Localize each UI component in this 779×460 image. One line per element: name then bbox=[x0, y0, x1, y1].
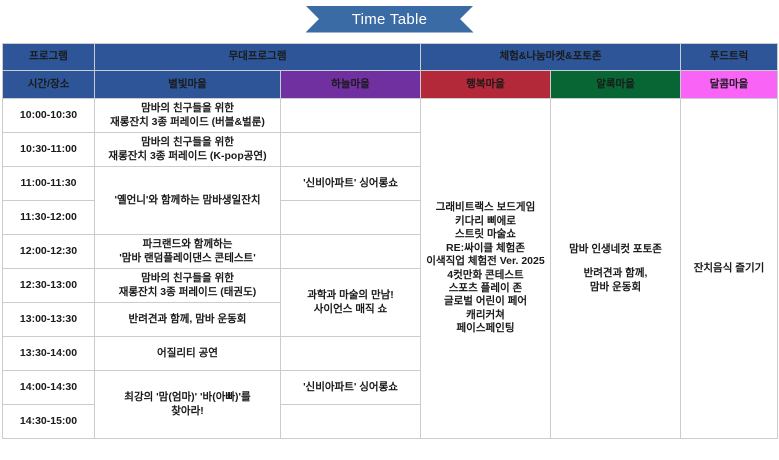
time-slot: 13:00-13:30 bbox=[3, 303, 95, 337]
header-venue-row: 시간/장소 별빛마을 하늘마을 행복마을 알록마을 달콤마을 bbox=[3, 71, 778, 99]
haengbok-item-10: 페이스페인팅 bbox=[423, 322, 548, 335]
haengbok-item-4: RE:싸이클 체험존 bbox=[423, 242, 548, 255]
haneul-cell-empty-5 bbox=[281, 235, 421, 269]
header-food-truck: 푸드트럭 bbox=[681, 44, 778, 71]
time-slot: 11:30-12:00 bbox=[3, 201, 95, 235]
timetable: 프로그램 무대프로그램 체험&나눔마켓&포토존 푸드트럭 시간/장소 별빛마을 … bbox=[2, 43, 778, 439]
header-group-row: 프로그램 무대프로그램 체험&나눔마켓&포토존 푸드트럭 bbox=[3, 44, 778, 71]
byeolbit-cell-910-line2: 찾아라! bbox=[97, 405, 278, 418]
haneul-cell-9: '신비아파트' 싱어롱쇼 bbox=[281, 371, 421, 405]
haengbok-item-3: 스트릿 마술쇼 bbox=[423, 228, 548, 241]
byeolbit-cell-1-line1: 맘바의 친구들을 위한 bbox=[97, 102, 278, 115]
header-venue-allok: 알록마을 bbox=[551, 71, 681, 99]
byeolbit-cell-6: 맘바의 친구들을 위한 재롱잔치 3종 퍼레이드 (태권도) bbox=[95, 269, 281, 303]
byeolbit-cell-5-line1: 파크랜드와 함께하는 bbox=[97, 238, 278, 251]
haengbok-cell: 그래비트랙스 보드게임 키다리 삐에로 스트릿 마술쇼 RE:싸이클 체험존 이… bbox=[421, 99, 551, 439]
haengbok-item-7: 스포츠 플레이 존 bbox=[423, 282, 548, 295]
allok-line-2b: 맘바 운동회 bbox=[553, 281, 678, 294]
time-table-page: Time Table 프로그램 무대프로그램 체험&나눔마켓&포토존 푸드트럭 … bbox=[0, 0, 779, 460]
byeolbit-cell-7: 반려견과 함께, 맘바 운동회 bbox=[95, 303, 281, 337]
byeolbit-cell-5: 파크랜드와 함께하는 '맘바 랜덤플레이댄스 콘테스트' bbox=[95, 235, 281, 269]
header-program: 프로그램 bbox=[3, 44, 95, 71]
haneul-cell-empty-8 bbox=[281, 337, 421, 371]
haneul-cell-67-line2: 사이언스 매직 쇼 bbox=[283, 303, 418, 316]
dalkom-cell: 잔치음식 즐기기 bbox=[681, 99, 778, 439]
byeolbit-cell-2-line2: 재롱잔치 3종 퍼레이드 (K-pop공연) bbox=[97, 150, 278, 163]
time-slot: 13:30-14:00 bbox=[3, 337, 95, 371]
ribbon-shape: Time Table bbox=[306, 6, 474, 33]
byeolbit-cell-6-line1: 맘바의 친구들을 위한 bbox=[97, 272, 278, 285]
allok-spacer bbox=[553, 256, 678, 267]
time-slot: 12:00-12:30 bbox=[3, 235, 95, 269]
haneul-cell-empty-4 bbox=[281, 201, 421, 235]
page-title: Time Table bbox=[352, 11, 428, 28]
haengbok-item-9: 캐리커쳐 bbox=[423, 309, 548, 322]
byeolbit-cell-1: 맘바의 친구들을 위한 재롱잔치 3종 퍼레이드 (버블&벌룬) bbox=[95, 99, 281, 133]
time-slot: 14:00-14:30 bbox=[3, 371, 95, 405]
byeolbit-cell-6-line2: 재롱잔치 3종 퍼레이드 (태권도) bbox=[97, 286, 278, 299]
byeolbit-cell-8: 어질리티 공연 bbox=[95, 337, 281, 371]
time-slot: 14:30-15:00 bbox=[3, 405, 95, 439]
header-venue-dalkom: 달콤마을 bbox=[681, 71, 778, 99]
title-banner: Time Table bbox=[0, 3, 779, 35]
haengbok-item-1: 그래비트랙스 보드게임 bbox=[423, 201, 548, 214]
header-time-place: 시간/장소 bbox=[3, 71, 95, 99]
byeolbit-cell-910-line1: 최강의 '맘(엄마)' '바(아빠)'를 bbox=[97, 391, 278, 404]
header-stage-program: 무대프로그램 bbox=[95, 44, 421, 71]
header-venue-haengbok: 행복마을 bbox=[421, 71, 551, 99]
byeolbit-cell-5-line2: '맘바 랜덤플레이댄스 콘테스트' bbox=[97, 252, 278, 265]
byeolbit-cell-910: 최강의 '맘(엄마)' '바(아빠)'를 찾아라! bbox=[95, 371, 281, 439]
haneul-cell-67: 과학과 마술의 만남! 사이언스 매직 쇼 bbox=[281, 269, 421, 337]
haengbok-item-5: 이색직업 체험전 Ver. 2025 bbox=[423, 255, 548, 268]
allok-line-2a: 반려견과 함께, bbox=[553, 267, 678, 280]
byeolbit-cell-2-line1: 맘바의 친구들을 위한 bbox=[97, 136, 278, 149]
byeolbit-cell-2: 맘바의 친구들을 위한 재롱잔치 3종 퍼레이드 (K-pop공연) bbox=[95, 133, 281, 167]
allok-cell: 맘바 인생네컷 포토존 반려견과 함께, 맘바 운동회 bbox=[551, 99, 681, 439]
haneul-cell-empty-1 bbox=[281, 99, 421, 133]
haengbok-item-8: 글로벌 어린이 페어 bbox=[423, 295, 548, 308]
header-venue-haneul: 하늘마을 bbox=[281, 71, 421, 99]
haneul-cell-empty-10 bbox=[281, 405, 421, 439]
time-slot: 10:30-11:00 bbox=[3, 133, 95, 167]
allok-line-1: 맘바 인생네컷 포토존 bbox=[553, 243, 678, 256]
haengbok-item-6: 4컷만화 콘테스트 bbox=[423, 269, 548, 282]
haneul-cell-67-line1: 과학과 마술의 만남! bbox=[283, 289, 418, 302]
haneul-cell-empty-2 bbox=[281, 133, 421, 167]
byeolbit-cell-1-line2: 재롱잔치 3종 퍼레이드 (버블&벌룬) bbox=[97, 116, 278, 129]
header-experience-market-photozone: 체험&나눔마켓&포토존 bbox=[421, 44, 681, 71]
haengbok-item-2: 키다리 삐에로 bbox=[423, 215, 548, 228]
haneul-cell-3: '신비아파트' 싱어롱쇼 bbox=[281, 167, 421, 201]
byeolbit-cell-34: '옐언니'와 함께하는 맘바생일잔치 bbox=[95, 167, 281, 235]
time-slot: 12:30-13:00 bbox=[3, 269, 95, 303]
time-slot: 11:00-11:30 bbox=[3, 167, 95, 201]
time-slot: 10:00-10:30 bbox=[3, 99, 95, 133]
table-row: 10:00-10:30 맘바의 친구들을 위한 재롱잔치 3종 퍼레이드 (버블… bbox=[3, 99, 778, 133]
header-venue-byeolbit: 별빛마을 bbox=[95, 71, 281, 99]
